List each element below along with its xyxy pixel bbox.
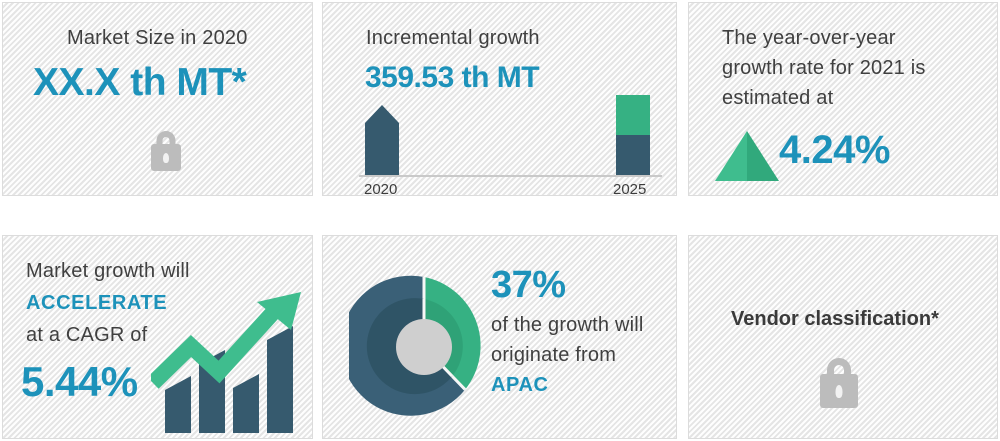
cagr-line-2: at a CAGR of [26,324,147,347]
cagr-value: 5.44% [21,358,138,406]
apac-donut-chart [349,272,499,422]
cagr-line-1: Market growth will [26,260,190,283]
bar-2025-base [616,135,650,175]
tick-label-2025: 2025 [613,181,646,196]
apac-emphasis: APAC [491,374,549,397]
bar-2020 [365,105,399,175]
panel-vendor-classification: Vendor classification* [688,235,998,439]
panel-incremental-growth: Incremental growth 359.53 th MT 2020 202… [322,2,677,196]
panel-apac: 37% of the growth will originate from AP… [322,235,677,439]
bar-2025-incremental [616,95,650,135]
lock-icon [820,358,858,408]
panel-market-size: Market Size in 2020 XX.X th MT* [2,2,313,196]
market-size-value: XX.X th MT* [33,61,246,105]
yoy-line-2: growth rate for 2021 is [722,57,926,80]
apac-line-2: originate from [491,344,616,367]
triangle-up-icon [715,131,781,181]
lock-icon [151,131,181,171]
market-size-title: Market Size in 2020 [67,27,248,50]
yoy-line-1: The year-over-year [722,27,896,50]
chart-axis-line [359,175,662,177]
apac-value: 37% [491,264,566,307]
donut-hub [396,319,452,375]
trend-line [153,306,279,383]
infographic-board: Market Size in 2020 XX.X th MT* Incremen… [0,0,1000,441]
incremental-growth-value: 359.53 th MT [365,61,539,95]
panel-cagr: Market growth will ACCELERATE at a CAGR … [2,235,313,439]
yoy-line-3: estimated at [722,87,833,110]
panel-yoy-growth: The year-over-year growth rate for 2021 … [688,2,998,196]
deco-bar-1 [165,376,191,433]
deco-bar-3 [233,374,259,433]
incremental-growth-title: Incremental growth [366,27,540,50]
yoy-growth-value: 4.24% [779,128,890,173]
vendor-classification-title: Vendor classification* [731,308,939,331]
growth-arrow-chart-icon [151,288,311,433]
deco-bar-4 [267,326,293,433]
incremental-growth-chart [323,95,677,175]
cagr-emphasis: ACCELERATE [26,292,167,315]
apac-line-1: of the growth will [491,314,644,337]
tick-label-2020: 2020 [364,181,397,196]
